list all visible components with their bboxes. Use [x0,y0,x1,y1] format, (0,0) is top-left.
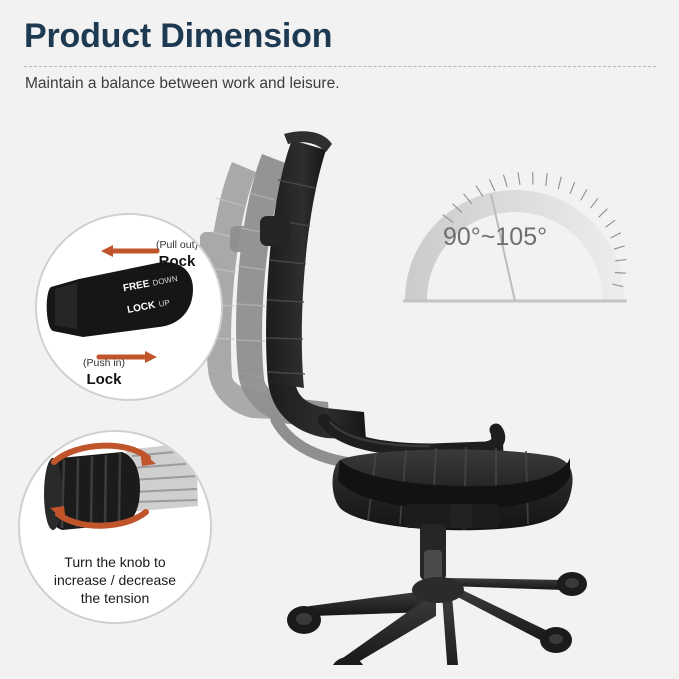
office-chair-illustration [180,120,610,665]
push-in-note: (Push in) [59,357,149,369]
lock-label: Lock [59,371,149,388]
title-divider [24,66,656,67]
knob-caption: Turn the knob to increase / decrease the… [20,554,210,608]
rock-label: Rock [132,253,222,270]
tilt-mechanism [404,504,500,528]
chair-svg [180,120,610,665]
callout-knob: Turn the knob to increase / decrease the… [18,430,212,624]
pull-out-note: (Pull out) [132,239,222,251]
page-title: Product Dimension [24,17,332,56]
page-subtitle: Maintain a balance between work and leis… [25,75,340,93]
knob-caption-line-2: increase / decrease [20,572,210,590]
callout-rock-lock: FREE LOCK DOWN UP (Pull out) Rock (Push … [35,213,223,401]
backrest-bracket [260,216,290,246]
knob-body [44,452,140,530]
knob-caption-line-1: Turn the knob to [20,554,210,572]
chair-base [304,577,570,665]
product-dimension-page: Product Dimension Maintain a balance bet… [0,0,679,679]
knob-caption-line-3: the tension [20,590,210,608]
